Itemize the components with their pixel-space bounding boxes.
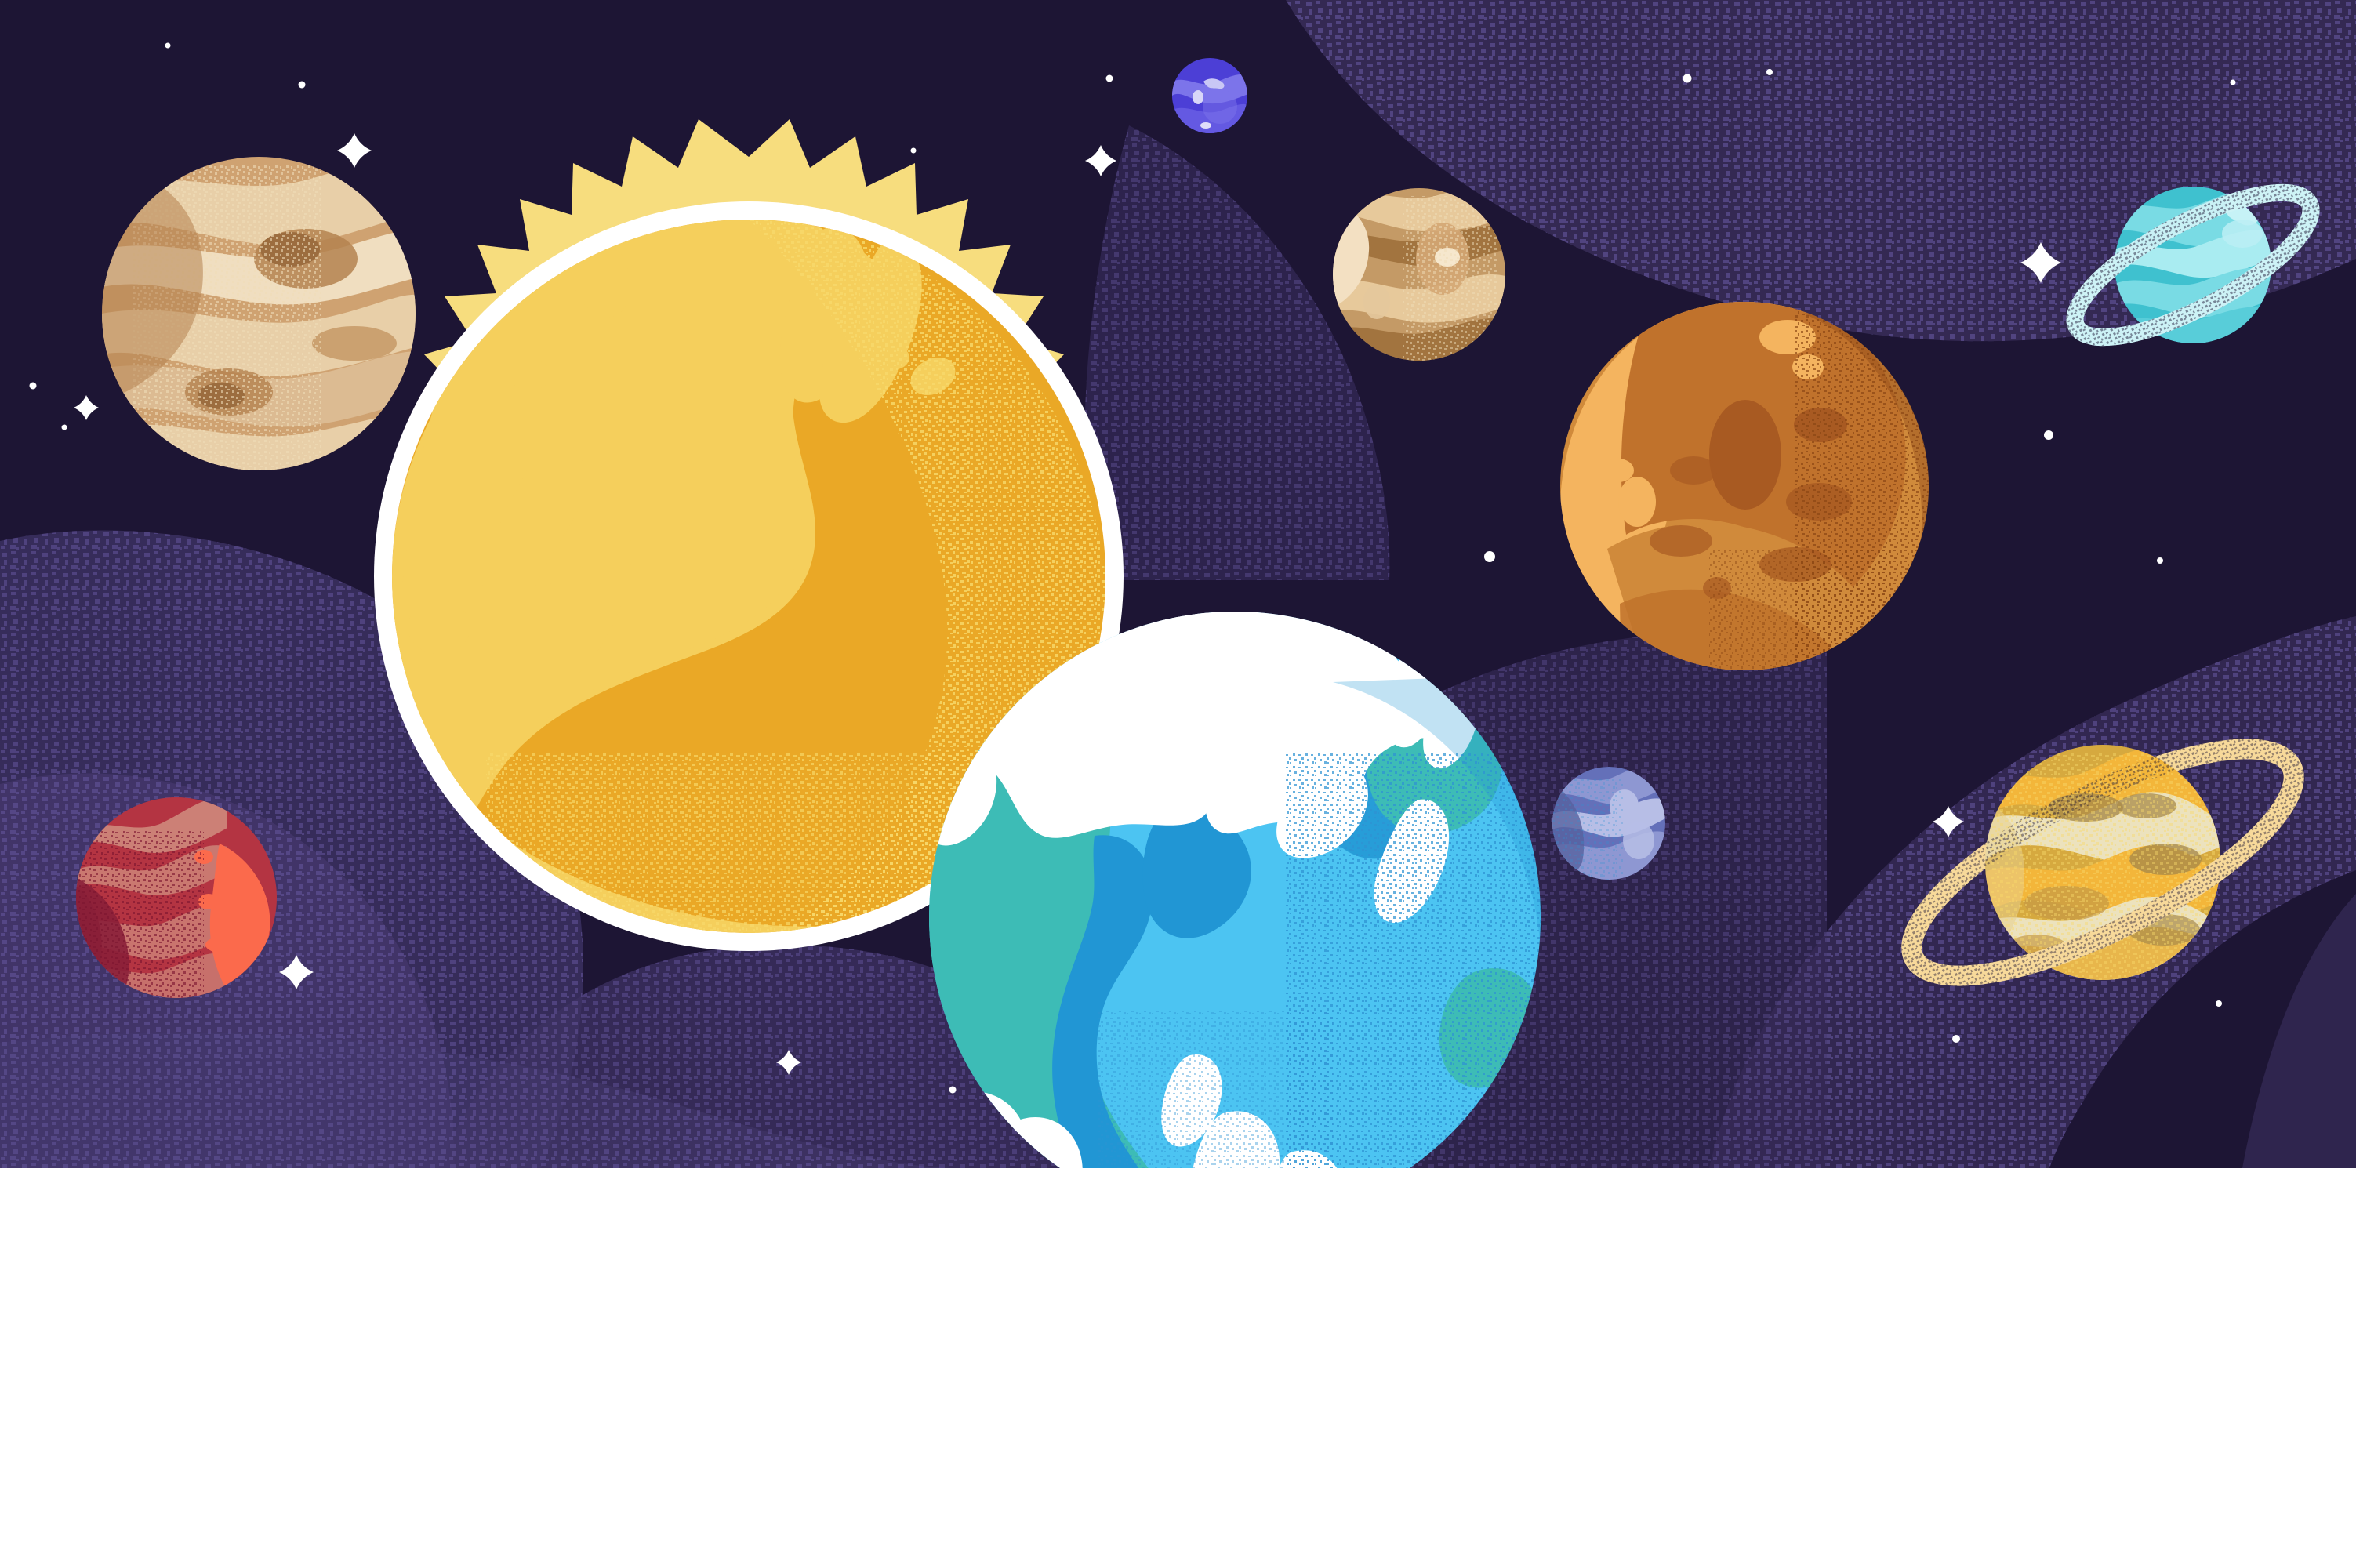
space-illustration (0, 0, 2356, 1168)
poster-canvas: vector illustrations 2 patterns SOLAR SY… (0, 0, 2356, 1568)
space-scene (0, 0, 2356, 1168)
star-dot (2216, 1000, 2222, 1007)
star-dot (2157, 557, 2163, 564)
star-dot (949, 1087, 957, 1094)
star-dot (62, 425, 67, 430)
caption-band: vector illustrations 2 patterns SOLAR SY… (0, 1168, 2356, 1568)
star-dot (2231, 80, 2236, 85)
star-dot (911, 148, 917, 154)
star-dot (299, 82, 306, 89)
star-dot (1484, 551, 1495, 562)
star-dot (1952, 1035, 1960, 1043)
star-dot (165, 43, 171, 49)
star-dot (30, 383, 37, 390)
star-dot (1766, 69, 1773, 75)
star-dot (2044, 430, 2053, 440)
star-dot (1106, 75, 1113, 82)
star-dot (1683, 74, 1692, 83)
